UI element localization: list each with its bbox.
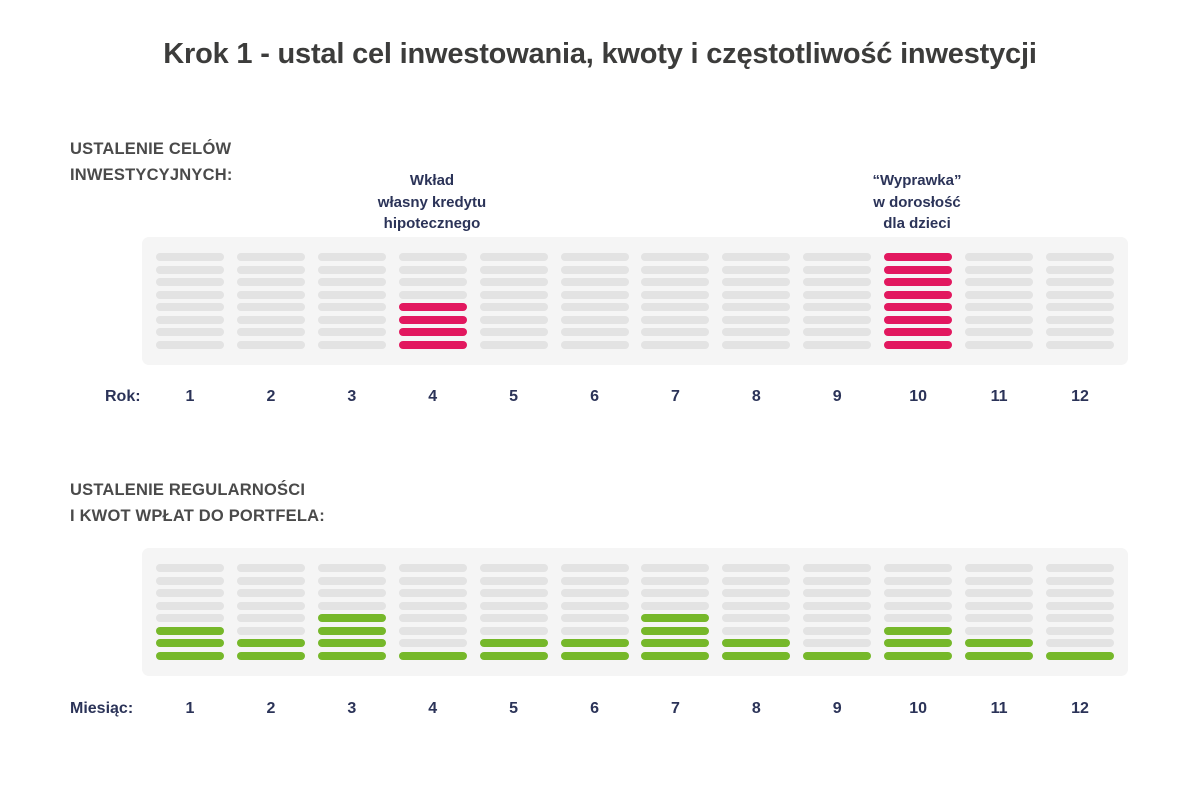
bar-segment-empty	[803, 602, 871, 610]
bar-segment-empty	[965, 253, 1033, 261]
bar-segment-empty	[237, 614, 305, 622]
bar-segment-empty	[237, 577, 305, 585]
bar-segment-empty	[561, 627, 629, 635]
axis-row-months: Miesiąc: 123456789101112	[0, 698, 1200, 720]
bar-segment-empty	[156, 614, 224, 622]
bar-segment-empty	[561, 316, 629, 324]
bar-segment-empty	[561, 564, 629, 572]
bar-segment-filled	[641, 639, 709, 647]
bar-segment-empty	[1046, 589, 1114, 597]
bar-segment-empty	[318, 564, 386, 572]
bar-segment-empty	[318, 291, 386, 299]
bar-segment-empty	[965, 589, 1033, 597]
bar-segment-empty	[722, 577, 790, 585]
bar-segment-empty	[803, 589, 871, 597]
bar-segment-empty	[641, 341, 709, 349]
bar-segment-empty	[318, 253, 386, 261]
bar-segment-empty	[884, 564, 952, 572]
bar-segment-empty	[318, 328, 386, 336]
bar-segment-empty	[480, 614, 548, 622]
axis-ticks-years: 123456789101112	[142, 386, 1128, 408]
bar-segment-empty	[641, 303, 709, 311]
axis-tick-label: 4	[399, 386, 467, 408]
bar-segment-empty	[641, 266, 709, 274]
bar-column[interactable]	[318, 253, 386, 349]
bar-segment-filled	[318, 614, 386, 622]
bar-segment-empty	[156, 253, 224, 261]
callout-line: hipotecznego	[332, 213, 532, 235]
bar-segment-empty	[641, 316, 709, 324]
bar-segment-filled	[237, 652, 305, 660]
bar-column[interactable]	[722, 564, 790, 660]
axis-tick-label: 1	[156, 386, 224, 408]
bar-segment-empty	[156, 266, 224, 274]
bar-segment-filled	[884, 639, 952, 647]
bar-segment-filled	[399, 341, 467, 349]
bar-segment-empty	[965, 564, 1033, 572]
bar-segment-empty	[965, 278, 1033, 286]
bar-segment-empty	[399, 291, 467, 299]
bar-segment-empty	[803, 564, 871, 572]
bar-segment-empty	[641, 278, 709, 286]
axis-tick-label: 3	[318, 386, 386, 408]
axis-tick-label: 5	[480, 386, 548, 408]
bar-column[interactable]	[480, 253, 548, 349]
bar-segment-filled	[480, 652, 548, 660]
bar-segment-empty	[803, 253, 871, 261]
bar-segment-empty	[480, 303, 548, 311]
callout-line: Wkład	[332, 170, 532, 192]
bar-segment-empty	[965, 266, 1033, 274]
bar-segment-filled	[399, 652, 467, 660]
bar-column[interactable]	[641, 564, 709, 660]
bar-segment-empty	[561, 341, 629, 349]
bar-segment-empty	[318, 278, 386, 286]
bar-segment-filled	[156, 639, 224, 647]
axis-tick-label: 3	[318, 698, 386, 720]
callout-children-adulthood-fund: “Wyprawka” w dorosłość dla dzieci	[817, 170, 1017, 235]
chart-panel-regularity	[142, 548, 1128, 676]
bar-column[interactable]	[237, 253, 305, 349]
bar-segment-filled	[884, 266, 952, 274]
bar-column[interactable]	[965, 253, 1033, 349]
bar-segment-filled	[965, 652, 1033, 660]
bar-segment-empty	[965, 291, 1033, 299]
axis-tick-label: 7	[641, 698, 709, 720]
bar-segment-empty	[480, 341, 548, 349]
bar-segment-filled	[399, 328, 467, 336]
bar-segment-empty	[480, 278, 548, 286]
bar-segment-empty	[803, 341, 871, 349]
bar-segment-filled	[156, 652, 224, 660]
bar-segment-empty	[965, 316, 1033, 324]
bar-segment-empty	[965, 328, 1033, 336]
axis-tick-label: 10	[884, 698, 952, 720]
bar-segment-empty	[803, 266, 871, 274]
bar-segment-filled	[884, 328, 952, 336]
bar-column[interactable]	[641, 253, 709, 349]
bar-column[interactable]	[1046, 253, 1114, 349]
bar-segment-filled	[884, 291, 952, 299]
bar-column[interactable]	[803, 253, 871, 349]
bar-segment-empty	[1046, 291, 1114, 299]
bar-segment-empty	[722, 316, 790, 324]
bar-segment-empty	[480, 602, 548, 610]
bar-segment-filled	[884, 627, 952, 635]
bar-segment-filled	[722, 639, 790, 647]
bar-segment-empty	[156, 328, 224, 336]
bar-segment-empty	[399, 564, 467, 572]
bar-segment-empty	[561, 328, 629, 336]
bar-segment-filled	[884, 278, 952, 286]
bar-segment-empty	[399, 577, 467, 585]
bar-segment-empty	[561, 303, 629, 311]
bar-segment-empty	[641, 291, 709, 299]
bar-segment-empty	[480, 253, 548, 261]
bar-segment-empty	[237, 564, 305, 572]
bar-segment-empty	[399, 278, 467, 286]
bar-segment-filled	[318, 639, 386, 647]
bar-column[interactable]	[884, 253, 952, 349]
bar-segment-empty	[641, 253, 709, 261]
bar-segment-empty	[641, 564, 709, 572]
bar-segment-empty	[803, 316, 871, 324]
bar-segment-empty	[1046, 341, 1114, 349]
axis-tick-label: 6	[561, 386, 629, 408]
bar-column[interactable]	[722, 253, 790, 349]
bar-segment-empty	[237, 589, 305, 597]
bar-segment-empty	[803, 627, 871, 635]
axis-tick-label: 10	[884, 386, 952, 408]
bar-segment-empty	[1046, 564, 1114, 572]
bar-segment-filled	[561, 639, 629, 647]
bar-segment-empty	[318, 602, 386, 610]
bar-segment-empty	[156, 278, 224, 286]
bar-column[interactable]	[156, 564, 224, 660]
bar-segment-empty	[561, 614, 629, 622]
bar-segment-empty	[318, 589, 386, 597]
axis-tick-label: 12	[1046, 386, 1114, 408]
bar-segment-empty	[156, 303, 224, 311]
bar-segment-empty	[965, 602, 1033, 610]
page-title: Krok 1 - ustal cel inwestowania, kwoty i…	[0, 38, 1200, 71]
bar-segment-empty	[480, 316, 548, 324]
bar-segment-empty	[965, 614, 1033, 622]
bar-segment-filled	[318, 627, 386, 635]
bar-segment-empty	[722, 328, 790, 336]
bar-segment-empty	[1046, 639, 1114, 647]
bar-segment-empty	[1046, 602, 1114, 610]
axis-tick-label: 9	[803, 386, 871, 408]
bar-segment-empty	[641, 589, 709, 597]
chart-panel-goals	[142, 237, 1128, 365]
bar-segment-empty	[237, 341, 305, 349]
bar-segment-empty	[156, 589, 224, 597]
bar-segment-empty	[399, 253, 467, 261]
bar-segment-empty	[561, 253, 629, 261]
bar-segment-empty	[480, 266, 548, 274]
bar-segment-empty	[965, 341, 1033, 349]
bar-segment-empty	[156, 577, 224, 585]
bar-segment-empty	[1046, 266, 1114, 274]
bar-segment-empty	[1046, 328, 1114, 336]
bar-column[interactable]	[156, 253, 224, 349]
bar-segment-empty	[399, 627, 467, 635]
bar-segment-empty	[399, 266, 467, 274]
bar-segment-empty	[237, 316, 305, 324]
axis-tick-label: 12	[1046, 698, 1114, 720]
bar-segment-filled	[884, 652, 952, 660]
bar-segment-empty	[641, 577, 709, 585]
callout-line: dla dzieci	[817, 213, 1017, 235]
heading-line: USTALENIE CELÓW	[70, 136, 233, 162]
bar-segment-empty	[561, 291, 629, 299]
bar-column[interactable]	[561, 564, 629, 660]
bar-segment-empty	[1046, 303, 1114, 311]
bar-segment-filled	[965, 639, 1033, 647]
bar-segment-empty	[318, 341, 386, 349]
callout-line: w dorosłość	[817, 192, 1017, 214]
bar-segment-empty	[561, 602, 629, 610]
bar-segment-filled	[399, 303, 467, 311]
axis-tick-label: 7	[641, 386, 709, 408]
axis-tick-label: 2	[237, 386, 305, 408]
axis-tick-label: 2	[237, 698, 305, 720]
bar-segment-empty	[803, 614, 871, 622]
bar-segment-empty	[803, 328, 871, 336]
axis-tick-label: 4	[399, 698, 467, 720]
axis-tick-label: 8	[722, 698, 790, 720]
bar-segment-filled	[884, 341, 952, 349]
bar-segment-filled	[237, 639, 305, 647]
bar-segment-filled	[884, 303, 952, 311]
bar-segment-empty	[237, 266, 305, 274]
bar-segment-filled	[722, 652, 790, 660]
axis-title-year: Rok:	[105, 386, 141, 408]
axis-tick-label: 1	[156, 698, 224, 720]
bar-segment-empty	[803, 278, 871, 286]
bar-segment-empty	[641, 602, 709, 610]
heading-line: I KWOT WPŁAT DO PORTFELA:	[70, 503, 325, 529]
callout-line: “Wyprawka”	[817, 170, 1017, 192]
bar-segment-empty	[156, 291, 224, 299]
bar-segment-empty	[965, 303, 1033, 311]
bar-column[interactable]	[965, 564, 1033, 660]
bar-segment-empty	[480, 589, 548, 597]
bar-segment-filled	[1046, 652, 1114, 660]
bar-segment-filled	[641, 627, 709, 635]
axis-row-years: Rok: 123456789101112	[0, 386, 1200, 408]
bar-segment-empty	[722, 564, 790, 572]
bar-segment-empty	[237, 602, 305, 610]
bar-segment-empty	[237, 627, 305, 635]
callout-line: własny kredytu	[332, 192, 532, 214]
bar-segment-empty	[480, 627, 548, 635]
axis-tick-label: 6	[561, 698, 629, 720]
bar-segment-empty	[480, 328, 548, 336]
bar-segment-empty	[561, 266, 629, 274]
bar-segment-empty	[399, 589, 467, 597]
bar-segment-empty	[237, 303, 305, 311]
bar-segment-empty	[965, 577, 1033, 585]
bar-column[interactable]	[237, 564, 305, 660]
bar-segment-empty	[884, 589, 952, 597]
section-heading-goals: USTALENIE CELÓW INWESTYCYJNYCH:	[70, 136, 233, 188]
bar-segment-empty	[803, 303, 871, 311]
heading-line: USTALENIE REGULARNOŚCI	[70, 477, 325, 503]
bar-segment-empty	[722, 278, 790, 286]
bar-segment-filled	[156, 627, 224, 635]
bar-segment-empty	[722, 291, 790, 299]
bar-segment-empty	[318, 316, 386, 324]
bar-segment-empty	[156, 316, 224, 324]
bar-segment-empty	[884, 577, 952, 585]
bar-column[interactable]	[884, 564, 952, 660]
axis-tick-label: 5	[480, 698, 548, 720]
bar-segment-filled	[399, 316, 467, 324]
bar-segment-empty	[1046, 253, 1114, 261]
axis-ticks-months: 123456789101112	[142, 698, 1128, 720]
axis-tick-label: 11	[965, 386, 1033, 408]
bar-segment-empty	[722, 341, 790, 349]
bar-segment-empty	[399, 602, 467, 610]
bar-segment-empty	[722, 589, 790, 597]
bar-segment-empty	[156, 602, 224, 610]
bar-segment-empty	[884, 602, 952, 610]
bar-segment-filled	[318, 652, 386, 660]
bar-segment-empty	[237, 278, 305, 286]
bar-segment-empty	[803, 639, 871, 647]
bar-segment-empty	[318, 266, 386, 274]
bar-segment-empty	[399, 639, 467, 647]
bar-segment-empty	[1046, 614, 1114, 622]
axis-tick-label: 8	[722, 386, 790, 408]
bar-segment-empty	[156, 341, 224, 349]
bar-segment-empty	[318, 303, 386, 311]
bar-segment-empty	[722, 614, 790, 622]
bar-segment-empty	[318, 577, 386, 585]
bar-column[interactable]	[803, 564, 871, 660]
bar-segment-empty	[237, 328, 305, 336]
bar-column[interactable]	[318, 564, 386, 660]
bar-segment-empty	[561, 589, 629, 597]
bar-segment-filled	[641, 614, 709, 622]
axis-tick-label: 9	[803, 698, 871, 720]
bar-segment-empty	[1046, 278, 1114, 286]
bar-column[interactable]	[399, 253, 467, 349]
bar-segment-empty	[1046, 316, 1114, 324]
bar-segment-filled	[480, 639, 548, 647]
bar-segment-empty	[399, 614, 467, 622]
bar-column[interactable]	[480, 564, 548, 660]
bar-segment-filled	[803, 652, 871, 660]
heading-line: INWESTYCYJNYCH:	[70, 162, 233, 188]
bar-segment-empty	[722, 266, 790, 274]
callout-mortgage-down-payment: Wkład własny kredytu hipotecznego	[332, 170, 532, 235]
axis-tick-label: 11	[965, 698, 1033, 720]
bar-segment-empty	[884, 614, 952, 622]
bar-column[interactable]	[1046, 564, 1114, 660]
bar-segment-filled	[641, 652, 709, 660]
bar-segment-empty	[237, 253, 305, 261]
bar-segment-empty	[480, 577, 548, 585]
axis-title-month: Miesiąc:	[70, 698, 133, 720]
bar-segment-empty	[803, 577, 871, 585]
bar-segment-empty	[803, 291, 871, 299]
bar-segment-empty	[561, 577, 629, 585]
bar-segment-empty	[722, 602, 790, 610]
bar-column[interactable]	[561, 253, 629, 349]
bar-segment-empty	[641, 328, 709, 336]
bar-segment-filled	[884, 253, 952, 261]
bar-segment-empty	[480, 564, 548, 572]
bar-segment-empty	[156, 564, 224, 572]
bar-segment-empty	[1046, 627, 1114, 635]
bar-segment-empty	[237, 291, 305, 299]
bar-segment-empty	[722, 627, 790, 635]
section-heading-regularity: USTALENIE REGULARNOŚCI I KWOT WPŁAT DO P…	[70, 477, 325, 529]
bar-segment-empty	[1046, 577, 1114, 585]
bar-segment-filled	[884, 316, 952, 324]
bar-segment-empty	[965, 627, 1033, 635]
bar-segment-empty	[722, 303, 790, 311]
bar-segment-filled	[561, 652, 629, 660]
bar-segment-empty	[722, 253, 790, 261]
bar-column[interactable]	[399, 564, 467, 660]
bar-segment-empty	[480, 291, 548, 299]
bar-segment-empty	[561, 278, 629, 286]
